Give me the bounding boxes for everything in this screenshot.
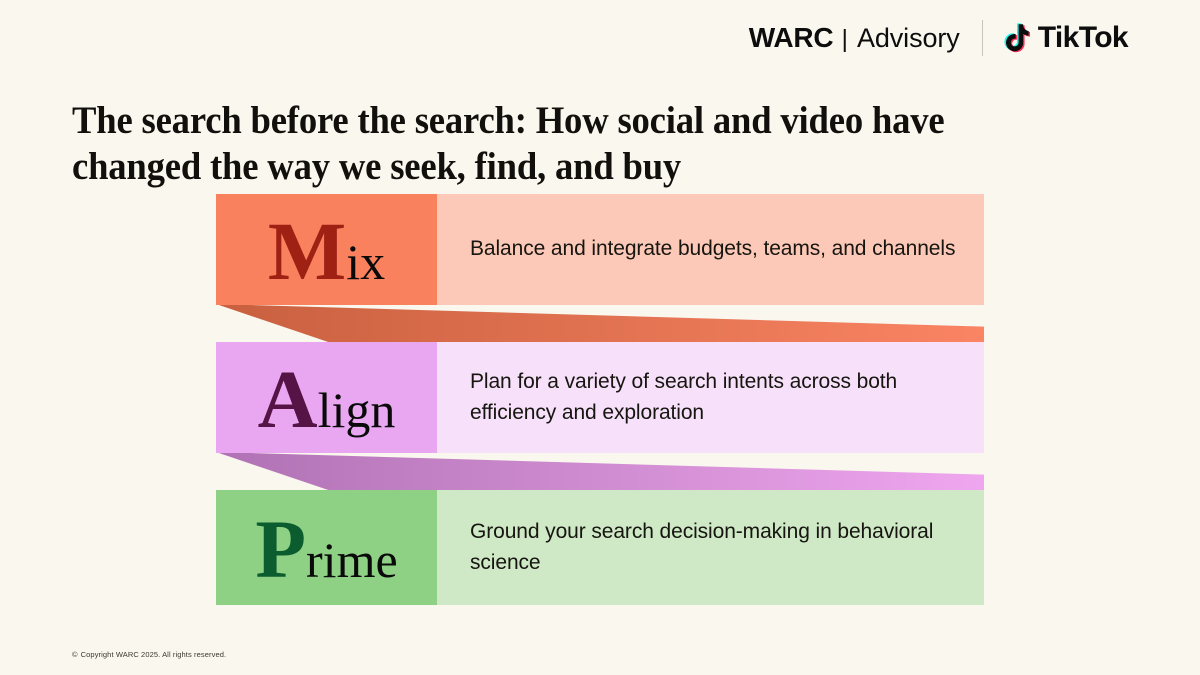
band-word-remainder-prime: rime (306, 532, 398, 588)
band-description-mix: Balance and integrate budgets, teams, an… (437, 194, 984, 305)
band-description-align: Plan for a variety of search intents acr… (437, 342, 984, 453)
page-title: The search before the search: How social… (72, 98, 1040, 189)
band-description-text-mix: Balance and integrate budgets, teams, an… (470, 234, 955, 264)
band-initial-m: M (268, 205, 346, 297)
copyright-symbol: © (72, 650, 78, 659)
band-word-mix-type: Mix (268, 210, 385, 293)
framework-band-mix: Mix Balance and integrate budgets, teams… (216, 194, 984, 305)
warc-separator: | (841, 25, 848, 54)
band-description-prime: Ground your search decision-making in be… (437, 490, 984, 605)
band-initial-p: P (255, 503, 306, 595)
map-framework-diagram: Mix Balance and integrate budgets, teams… (216, 194, 984, 606)
band-connector-mix-to-align (216, 304, 984, 343)
warc-product-name: Advisory (857, 23, 960, 54)
framework-band-align: Align Plan for a variety of search inten… (216, 342, 984, 453)
band-word-remainder-align: lign (318, 382, 396, 438)
copyright-text: Copyright WARC 2025. All rights reserved… (81, 650, 227, 659)
warc-wordmark: WARC (749, 22, 834, 54)
band-word-align: Align (216, 342, 437, 453)
brand-lockup: WARC | Advisory TikTok (749, 18, 1128, 58)
band-initial-a: A (258, 353, 318, 445)
tiktok-music-note-icon (1003, 23, 1033, 56)
band-connector-align-to-prime (216, 452, 984, 491)
band-word-remainder-mix: ix (346, 234, 385, 290)
band-description-text-prime: Ground your search decision-making in be… (470, 517, 960, 577)
framework-band-prime: Prime Ground your search decision-making… (216, 490, 984, 605)
band-word-prime: Prime (216, 490, 437, 605)
band-word-align-type: Align (258, 358, 396, 441)
tiktok-wordmark: TikTok (1038, 21, 1128, 55)
copyright-notice: ©Copyright WARC 2025. All rights reserve… (72, 650, 226, 659)
tiktok-logo: TikTok (1003, 21, 1128, 55)
band-description-text-align: Plan for a variety of search intents acr… (470, 367, 960, 427)
band-word-mix: Mix (216, 194, 437, 305)
logo-divider (982, 20, 983, 56)
warc-advisory-logo: WARC | Advisory (749, 22, 960, 54)
band-word-prime-type: Prime (255, 508, 397, 591)
